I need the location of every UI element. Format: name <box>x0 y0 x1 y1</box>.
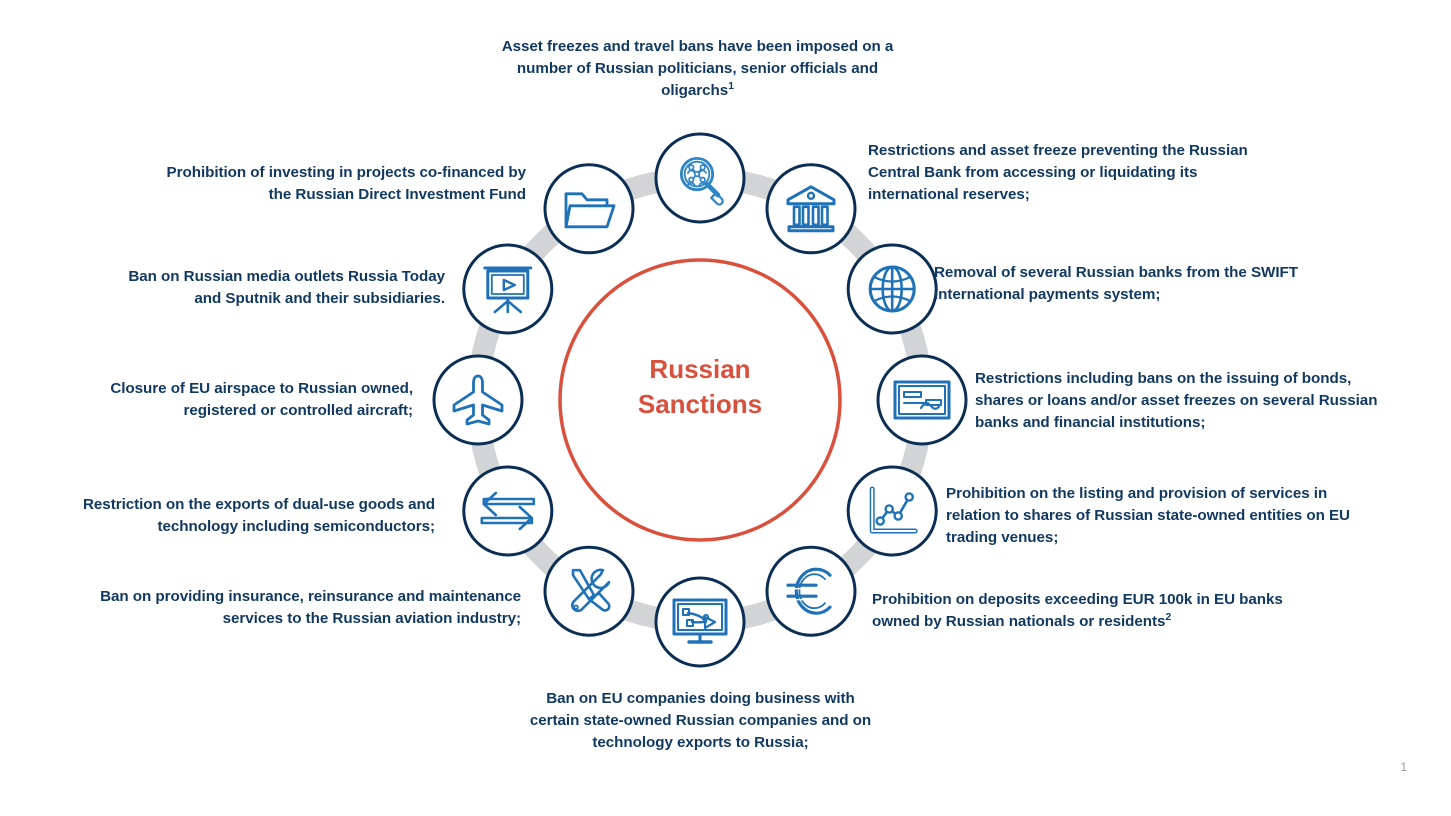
node-bonds-shares-loans[interactable] <box>878 356 966 444</box>
callout-oligarch-asset-freeze: Asset freezes and travel bans have been … <box>485 36 910 102</box>
callout-text: Ban on EU companies doing business with … <box>530 690 871 751</box>
callout-investment-fund: Prohibition of investing in projects co-… <box>148 162 526 206</box>
callout-text: Ban on providing insurance, reinsurance … <box>100 588 521 627</box>
node-airspace-closure[interactable] <box>434 356 522 444</box>
callout-airspace-closure: Closure of EU airspace to Russian owned,… <box>101 378 413 422</box>
callout-text: Asset freezes and travel bans have been … <box>502 38 894 99</box>
callout-text: Removal of several Russian banks from th… <box>934 264 1298 303</box>
node-central-bank-freeze[interactable] <box>767 165 855 253</box>
infographic-canvas: .ic { fill:none; stroke:#1F72B8; stroke-… <box>0 0 1451 816</box>
callout-text: Ban on Russian media outlets Russia Toda… <box>128 268 445 307</box>
callout-text: Closure of EU airspace to Russian owned,… <box>110 380 413 419</box>
node-swift-removal[interactable] <box>848 245 936 333</box>
node-deposit-cap[interactable] <box>767 547 855 635</box>
node-trading-venues[interactable] <box>848 467 936 555</box>
callout-text: Restriction on the exports of dual-use g… <box>83 496 435 535</box>
footnote-marker: 2 <box>1165 612 1171 623</box>
callout-text: Prohibition on deposits exceeding EUR 10… <box>872 591 1283 630</box>
callout-bonds-shares-loans: Restrictions including bans on the issui… <box>975 368 1395 434</box>
callout-dual-use-exports: Restriction on the exports of dual-use g… <box>66 494 435 538</box>
callout-text: Prohibition on the listing and provision… <box>946 485 1350 546</box>
callout-text: Restrictions and asset freeze preventing… <box>868 142 1248 203</box>
callout-aviation-insurance: Ban on providing insurance, reinsurance … <box>79 586 521 630</box>
node-media-ban[interactable] <box>464 245 552 333</box>
node-state-owned-business[interactable] <box>656 578 744 666</box>
callout-swift-removal: Removal of several Russian banks from th… <box>934 262 1334 306</box>
page-number: 1 <box>1400 760 1407 774</box>
callout-central-bank-freeze: Restrictions and asset freeze preventing… <box>868 140 1288 206</box>
node-oligarch-asset-freeze[interactable] <box>656 134 744 222</box>
footnote-marker: 1 <box>728 81 734 92</box>
callout-deposit-cap: Prohibition on deposits exceeding EUR 10… <box>872 589 1312 633</box>
center-ring <box>560 260 840 540</box>
callout-state-owned-business: Ban on EU companies doing business with … <box>528 688 873 754</box>
callout-trading-venues: Prohibition on the listing and provision… <box>946 483 1376 549</box>
node-aviation-insurance[interactable] <box>545 547 633 635</box>
node-dual-use-exports[interactable] <box>464 467 552 555</box>
node-investment-fund[interactable] <box>545 165 633 253</box>
callout-media-ban: Ban on Russian media outlets Russia Toda… <box>120 266 445 310</box>
callout-text: Restrictions including bans on the issui… <box>975 370 1377 431</box>
callout-text: Prohibition of investing in projects co-… <box>167 164 526 203</box>
